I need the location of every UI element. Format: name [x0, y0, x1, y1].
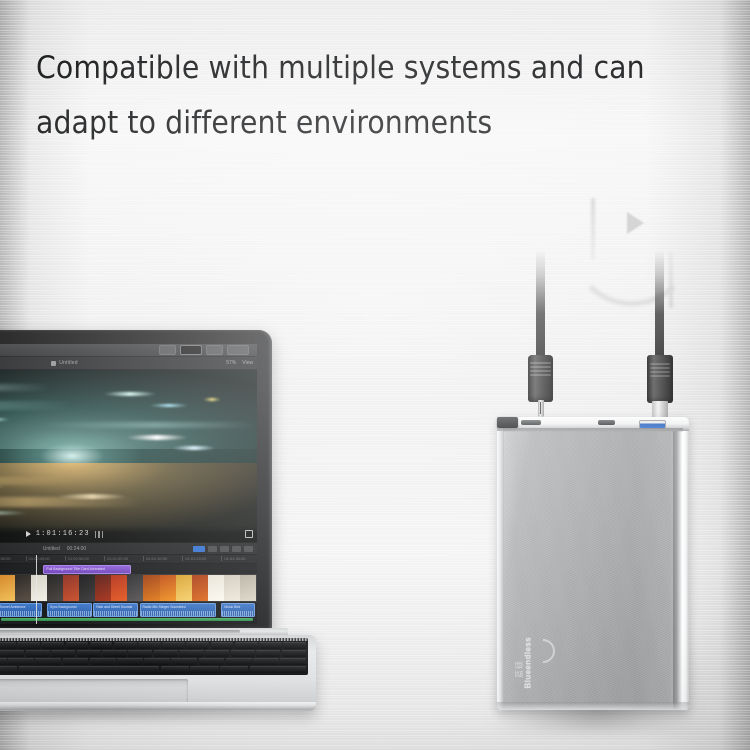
- toolbar-button-4[interactable]: [227, 345, 249, 355]
- laptop-base: [0, 635, 316, 711]
- clip-label: Full Background Title Card Animated: [44, 566, 129, 572]
- timeline-tracks[interactable]: 01:00:10:00 01:00:20:00 01:00:30:00 01:0…: [0, 555, 257, 624]
- ruler-tick: 01:00:50:00: [65, 556, 89, 561]
- ruler-tick: 01:01:00:00: [104, 556, 128, 561]
- laptop-hinge-slot: [0, 630, 240, 633]
- page-title: Compatible with multiple systems and can…: [36, 41, 726, 151]
- product-marketing-image: Compatible with multiple systems and can…: [0, 0, 750, 750]
- drive-left-rail: [497, 417, 504, 710]
- timeline-title-clip[interactable]: Full Background Title Card Animated: [43, 565, 130, 574]
- ruler-tick: 01:00:40:00: [26, 556, 50, 561]
- view-menu[interactable]: View: [242, 360, 253, 366]
- timeline-project-label: Untitled: [43, 546, 60, 552]
- timeline-ruler[interactable]: 01:00:10:00 01:00:20:00 01:00:30:00 01:0…: [0, 555, 257, 564]
- ruler-tick: 01:00:30:00: [0, 556, 11, 561]
- keyboard-speaker-grille: [0, 638, 308, 641]
- usb-plug: [647, 355, 673, 421]
- play-arrow-ghost-icon: [565, 190, 695, 310]
- tunnel-video-frame: [0, 370, 257, 542]
- brand-name-cn: 蓝硕: [514, 660, 525, 678]
- play-icon[interactable]: [26, 531, 31, 537]
- toolbar-button-1[interactable]: [159, 345, 176, 355]
- laptop: Untitled 57% View: [0, 330, 396, 712]
- ghost-triangle: [627, 212, 644, 234]
- external-hard-drive: Blueendless 蓝硕: [497, 417, 689, 712]
- clip-label: Through Tunnel Ambience: [0, 604, 41, 610]
- ruler-tick: 01:01:20:00: [182, 556, 206, 561]
- app-toolbar: [0, 344, 257, 357]
- ruler-tick: 01:01:30:00: [221, 556, 245, 561]
- timeline-audio-clip[interactable]: Radio Mix Stinger Soundbed: [140, 603, 217, 617]
- timeline[interactable]: 01:00:10:00 01:00:20:00 01:00:30:00 01:0…: [0, 555, 257, 624]
- mini-port[interactable]: [598, 420, 615, 425]
- viewer-meter: [95, 531, 104, 538]
- toolbar-button-2[interactable]: [180, 345, 202, 355]
- toolbar-button-3[interactable]: [206, 345, 223, 355]
- clip-label: Sync Background: [48, 604, 91, 610]
- project-icon: [51, 361, 56, 366]
- zoom-level[interactable]: 57%: [226, 360, 236, 366]
- dc-plug-pin: [540, 402, 542, 414]
- viewer-playback-bar[interactable]: 1:01:16:23: [0, 526, 257, 542]
- clip-label: Music Bed: [222, 604, 254, 610]
- timeline-header: Untitled 00:24:00: [0, 542, 257, 555]
- viewer-timecode: 1:01:16:23: [36, 530, 90, 538]
- timeline-playhead[interactable]: [36, 555, 37, 624]
- laptop-lid: Untitled 57% View: [0, 330, 272, 630]
- dc-barrel-plug: [528, 355, 553, 417]
- timeline-filmstrip[interactable]: [0, 574, 257, 602]
- brand-logo: Blueendless 蓝硕: [512, 635, 570, 697]
- timeline-audio-clip[interactable]: Music Bed: [221, 603, 255, 617]
- expand-icon[interactable]: [245, 530, 253, 538]
- timeline-audio-clip[interactable]: Sync Background: [47, 603, 92, 617]
- drive-right-rail: [673, 417, 689, 710]
- usb-data-cable: [655, 250, 664, 360]
- project-title: Untitled: [59, 360, 78, 366]
- laptop-keyboard[interactable]: [0, 638, 308, 675]
- drive-body: Blueendless 蓝硕: [497, 417, 689, 710]
- timeline-audio-clip[interactable]: Rain and Street Sounds: [93, 603, 138, 617]
- laptop-screen: Untitled 57% View: [0, 344, 257, 624]
- video-editor-app: Untitled 57% View: [0, 344, 257, 624]
- headline-line-1: Compatible with multiple systems and can: [36, 41, 726, 96]
- headline-line-2: adapt to different environments: [36, 96, 726, 151]
- drive-bottom-edge: [497, 702, 689, 710]
- ghost-arc: [571, 232, 693, 306]
- dc-power-cable: [536, 250, 545, 360]
- app-title-bar: Untitled 57% View: [0, 357, 257, 370]
- laptop-shadow: [0, 708, 332, 734]
- drive-top-inner-shadow: [503, 428, 683, 432]
- micro-usb-port[interactable]: [521, 420, 541, 425]
- timeline-green-clip[interactable]: [1, 618, 254, 621]
- video-viewer: 1:01:16:23: [0, 370, 257, 542]
- timeline-view-controls[interactable]: [193, 546, 253, 552]
- ruler-tick: 01:01:10:00: [143, 556, 167, 561]
- clip-label: Rain and Street Sounds: [94, 604, 137, 610]
- clip-label: Radio Mix Stinger Soundbed: [141, 604, 216, 610]
- dc-power-port[interactable]: [497, 417, 518, 428]
- timeline-duration: 00:24:00: [67, 546, 86, 552]
